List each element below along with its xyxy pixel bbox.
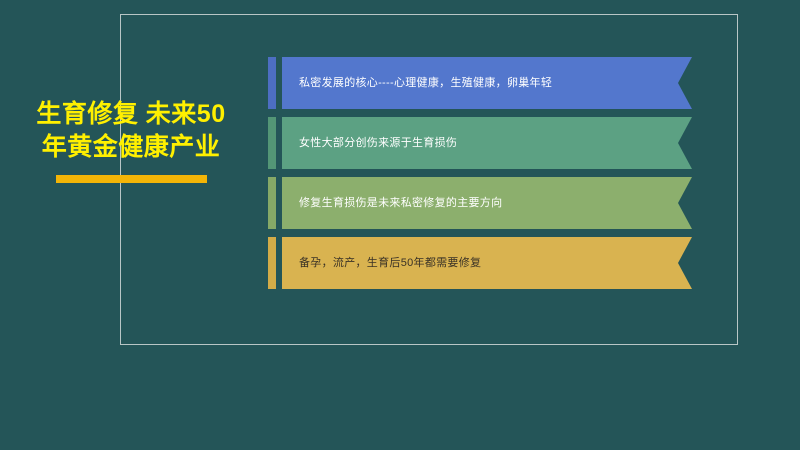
banner-label-2: 女性大部分创伤来源于生育损伤	[299, 136, 457, 151]
banner-accent-bar-4	[268, 237, 276, 289]
banner-body-2[interactable]: 女性大部分创伤来源于生育损伤	[282, 117, 692, 169]
banner-accent-bar-2	[268, 117, 276, 169]
title-block: 生育修复 未来50年黄金健康产业	[24, 98, 238, 183]
banner-label-1: 私密发展的核心----心理健康，生殖健康，卵巢年轻	[299, 76, 552, 91]
banner-item-3[interactable]: 修复生育损伤是未来私密修复的主要方向	[268, 177, 692, 229]
banner-label-4: 备孕，流产，生育后50年都需要修复	[299, 256, 481, 271]
banner-body-1[interactable]: 私密发展的核心----心理健康，生殖健康，卵巢年轻	[282, 57, 692, 109]
banner-item-4[interactable]: 备孕，流产，生育后50年都需要修复	[268, 237, 692, 289]
slide-canvas: 生育修复 未来50年黄金健康产业 私密发展的核心----心理健康，生殖健康，卵巢…	[0, 0, 800, 450]
banner-item-2[interactable]: 女性大部分创伤来源于生育损伤	[268, 117, 692, 169]
banner-body-3[interactable]: 修复生育损伤是未来私密修复的主要方向	[282, 177, 692, 229]
banner-accent-bar-3	[268, 177, 276, 229]
page-title: 生育修复 未来50年黄金健康产业	[24, 98, 238, 164]
banner-list: 私密发展的核心----心理健康，生殖健康，卵巢年轻 女性大部分创伤来源于生育损伤…	[268, 57, 692, 289]
banner-body-4[interactable]: 备孕，流产，生育后50年都需要修复	[282, 237, 692, 289]
banner-item-1[interactable]: 私密发展的核心----心理健康，生殖健康，卵巢年轻	[268, 57, 692, 109]
title-underline-rule	[56, 175, 207, 183]
banner-accent-bar-1	[268, 57, 276, 109]
banner-label-3: 修复生育损伤是未来私密修复的主要方向	[299, 196, 502, 211]
